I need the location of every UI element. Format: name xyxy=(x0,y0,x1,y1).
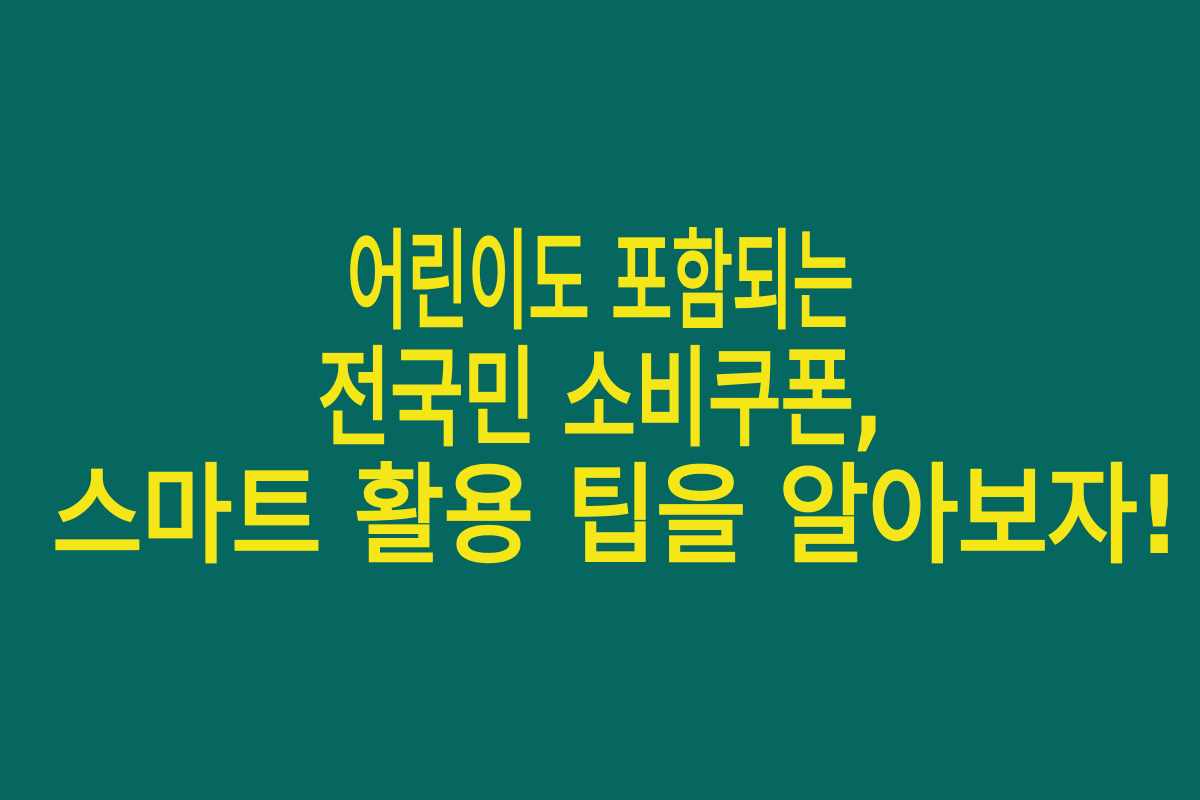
headline-line-1: 어린이도 포함되는 xyxy=(230,224,970,341)
headline-line-3: 스마트 활용 팁을 알아보자! xyxy=(52,458,1148,575)
headline-line-2: 전국민 소비쿠폰, xyxy=(155,341,1045,458)
banner-canvas: 어린이도 포함되는 전국민 소비쿠폰, 스마트 활용 팁을 알아보자! xyxy=(0,0,1200,800)
headline-text-block: 어린이도 포함되는 전국민 소비쿠폰, 스마트 활용 팁을 알아보자! xyxy=(0,224,1200,575)
